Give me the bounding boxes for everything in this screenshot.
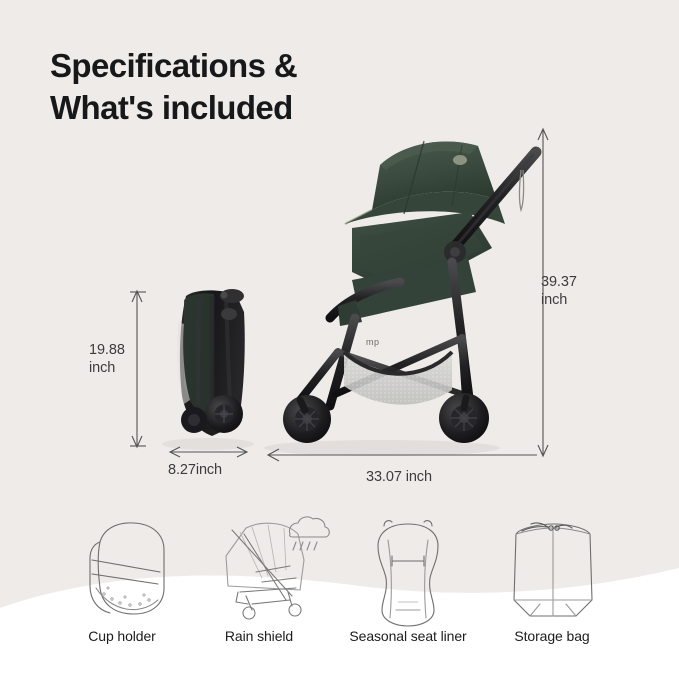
accessory-label-storage-bag: Storage bag — [514, 628, 589, 644]
cup-holder-icon — [90, 523, 164, 614]
accessory-label-cup-holder: Cup holder — [88, 628, 156, 644]
storage-bag-icon — [514, 523, 592, 616]
rain-shield-icon — [226, 517, 329, 619]
accessory-label-rain-shield: Rain shield — [225, 628, 293, 644]
accessory-label-seat-liner: Seasonal seat liner — [349, 628, 466, 644]
seat-liner-icon — [378, 521, 438, 626]
accessories-illustrations — [0, 0, 679, 679]
specifications-page: Specifications & What's included — [0, 0, 679, 679]
